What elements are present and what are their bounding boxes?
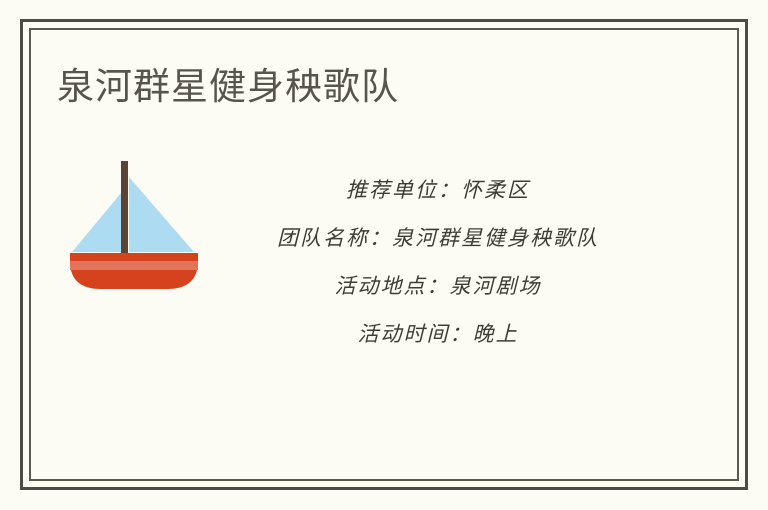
page-title: 泉河群星健身秧歌队 (57, 64, 399, 110)
sailboat-left-sail (72, 193, 121, 252)
detail-row-recommending-unit: 推荐单位：怀柔区 (210, 166, 666, 214)
detail-row-activity-time: 活动时间：晚上 (210, 310, 666, 358)
detail-row-team-name: 团队名称：泉河群星健身秧歌队 (210, 214, 666, 262)
sailboat-hull (70, 253, 198, 289)
sailboat-right-sail (129, 177, 194, 252)
details-list: 推荐单位：怀柔区 团队名称：泉河群星健身秧歌队 活动地点：泉河剧场 活动时间：晚… (210, 166, 666, 358)
sailboat-hull-stripe (70, 261, 198, 270)
sailboat-mast (121, 161, 128, 259)
detail-row-activity-location: 活动地点：泉河剧场 (210, 262, 666, 310)
info-card: 泉河群星健身秧歌队 推荐单位：怀柔区 团队名称：泉河群星健身秧歌队 活动地点：泉… (0, 0, 768, 510)
sailboat-icon (66, 155, 202, 291)
